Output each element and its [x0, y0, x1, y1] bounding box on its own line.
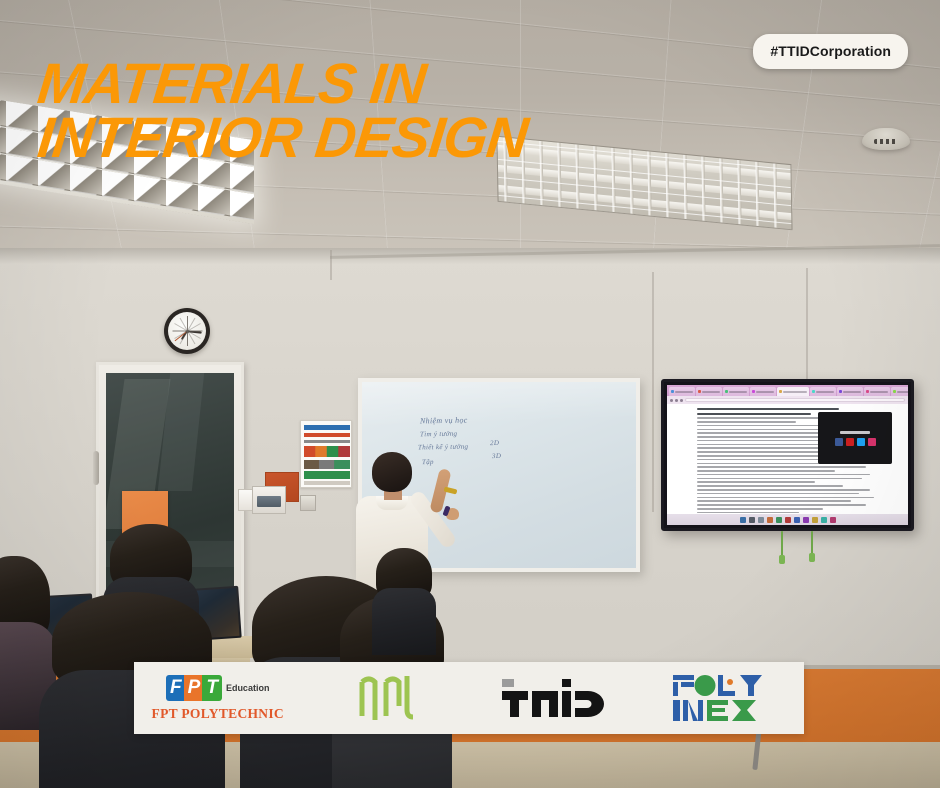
taskbar-icon-8[interactable]: [812, 517, 818, 523]
taskbar-icon-0[interactable]: [740, 517, 746, 523]
browser-page-content: [667, 404, 908, 514]
title-line-1: MATERIALS IN: [35, 58, 529, 110]
forward-icon[interactable]: [675, 399, 678, 402]
student-figure: [0, 556, 50, 706]
ttid-lettermark-icon: [500, 677, 606, 719]
fpt-lettermark: FPT: [166, 675, 222, 701]
wall-clock-icon: [164, 308, 210, 354]
tab-title: [897, 391, 908, 393]
browser-address-bar[interactable]: [667, 396, 908, 404]
light-switch-plate[interactable]: [238, 489, 253, 511]
browser-tab[interactable]: [891, 387, 908, 396]
instructor-head: [372, 452, 412, 492]
browser-tab[interactable]: [696, 387, 722, 396]
tab-title: [783, 391, 807, 393]
ipl-logo[interactable]: [302, 662, 470, 734]
polyinex-blocks-icon: [672, 673, 768, 723]
page-text-line: [697, 413, 811, 415]
page-text-line: [697, 497, 874, 499]
browser-tab[interactable]: [810, 387, 836, 396]
page-text-line: [697, 470, 835, 472]
youtube-icon[interactable]: [846, 438, 854, 446]
partner-logo-bar: FPT Education FPT POLYTECHNIC: [134, 662, 804, 734]
taskbar-icon-9[interactable]: [821, 517, 827, 523]
whiteboard-mark: 2D: [490, 439, 499, 447]
page-text-line: [697, 478, 862, 480]
tab-title: [843, 391, 861, 393]
student-torso: [372, 588, 437, 654]
tab-favicon: [698, 390, 701, 393]
clock-face: [168, 312, 206, 350]
whiteboard-mark: 3D: [492, 452, 501, 460]
browser-tab[interactable]: [750, 387, 776, 396]
fpt-education-label: Education: [226, 683, 270, 693]
student-figure: [376, 548, 432, 640]
page-text-line: [697, 489, 870, 491]
tab-favicon: [893, 390, 896, 393]
tab-title: [756, 391, 774, 393]
taskbar-icon-1[interactable]: [749, 517, 755, 523]
fpt-logo-row: FPT Education: [166, 675, 269, 701]
page-text-line: [697, 417, 823, 419]
browser-tab[interactable]: [864, 387, 890, 396]
hashtag-badge[interactable]: #TTIDCorporation: [753, 34, 908, 69]
door-handle[interactable]: [93, 451, 99, 485]
tab-title: [729, 391, 747, 393]
taskbar-icon-3[interactable]: [767, 517, 773, 523]
ttid-logo[interactable]: [469, 662, 637, 734]
safety-notice-poster: [300, 420, 352, 488]
wall-mounted-tv[interactable]: [661, 379, 914, 531]
hanging-cable: [781, 531, 783, 557]
video-embed-card[interactable]: [818, 412, 892, 464]
page-text-line: [697, 421, 796, 423]
tab-favicon: [752, 390, 755, 393]
whiteboard-note-line: Tìm ý tưởng: [420, 430, 457, 439]
taskbar-icon-4[interactable]: [776, 517, 782, 523]
smoke-detector-icon: [862, 128, 910, 150]
wall-seam: [330, 250, 332, 280]
os-taskbar[interactable]: [667, 514, 908, 525]
taskbar-icon-5[interactable]: [785, 517, 791, 523]
tab-favicon: [671, 390, 674, 393]
fpt-education-logo[interactable]: FPT Education FPT POLYTECHNIC: [134, 662, 302, 734]
tab-title: [702, 391, 720, 393]
tab-favicon: [839, 390, 842, 393]
social-icon-row[interactable]: [835, 438, 876, 446]
fpt-polytechnic-label: FPT POLYTECHNIC: [152, 706, 284, 722]
thermostat-icon[interactable]: [300, 495, 316, 511]
wall-seam: [652, 272, 654, 512]
taskbar-icon-2[interactable]: [758, 517, 764, 523]
ipl-lettermark-icon: [356, 672, 414, 724]
page-text-line: [697, 408, 839, 410]
whiteboard-note-line: Thiết kế ý tưởng: [418, 443, 468, 452]
browser-tab[interactable]: [669, 387, 695, 396]
whiteboard-glare: [358, 378, 640, 429]
page-text-line: [697, 481, 815, 483]
hanging-cable: [811, 531, 813, 555]
fpt-letter-p: P: [184, 675, 205, 701]
page-text-line: [697, 504, 866, 506]
tab-favicon: [779, 390, 782, 393]
facebook-icon[interactable]: [835, 438, 843, 446]
page-text-line: [697, 466, 866, 468]
card-title-bar: [840, 431, 870, 434]
taskbar-icon-10[interactable]: [830, 517, 836, 523]
browser-tab[interactable]: [777, 387, 809, 396]
browser-tab[interactable]: [837, 387, 863, 396]
page-text-line: [697, 508, 823, 510]
tab-favicon: [725, 390, 728, 393]
tv-screen: [667, 385, 908, 525]
page-text-line: [697, 485, 843, 487]
taskbar-icon-6[interactable]: [794, 517, 800, 523]
back-icon[interactable]: [670, 399, 673, 402]
fpt-letter-t: T: [202, 675, 222, 701]
reload-icon[interactable]: [680, 399, 683, 402]
browser-tab-bar[interactable]: [667, 385, 908, 396]
tab-favicon: [866, 390, 869, 393]
polyinex-logo[interactable]: [637, 662, 805, 734]
url-input[interactable]: [685, 398, 905, 402]
instagram-icon[interactable]: [868, 438, 876, 446]
poster-canvas: Nhiệm vụ học Tìm ý tưởng Thiết kế ý tưởn…: [0, 0, 940, 788]
page-title: MATERIALS IN INTERIOR DESIGN: [38, 58, 527, 165]
tab-title: [870, 391, 888, 393]
whiteboard-note-line: Nhiệm vụ học: [420, 416, 468, 426]
page-text-line: [697, 500, 851, 502]
tab-title: [816, 391, 834, 393]
browser-tab[interactable]: [723, 387, 749, 396]
electrical-panel-box[interactable]: [252, 486, 286, 514]
taskbar-icon-7[interactable]: [803, 517, 809, 523]
page-text-line: [697, 493, 859, 495]
title-line-2: INTERIOR DESIGN: [35, 112, 529, 164]
tab-title: [675, 391, 693, 393]
tab-favicon: [812, 390, 815, 393]
page-text-line: [697, 474, 870, 476]
twitter-icon[interactable]: [857, 438, 865, 446]
